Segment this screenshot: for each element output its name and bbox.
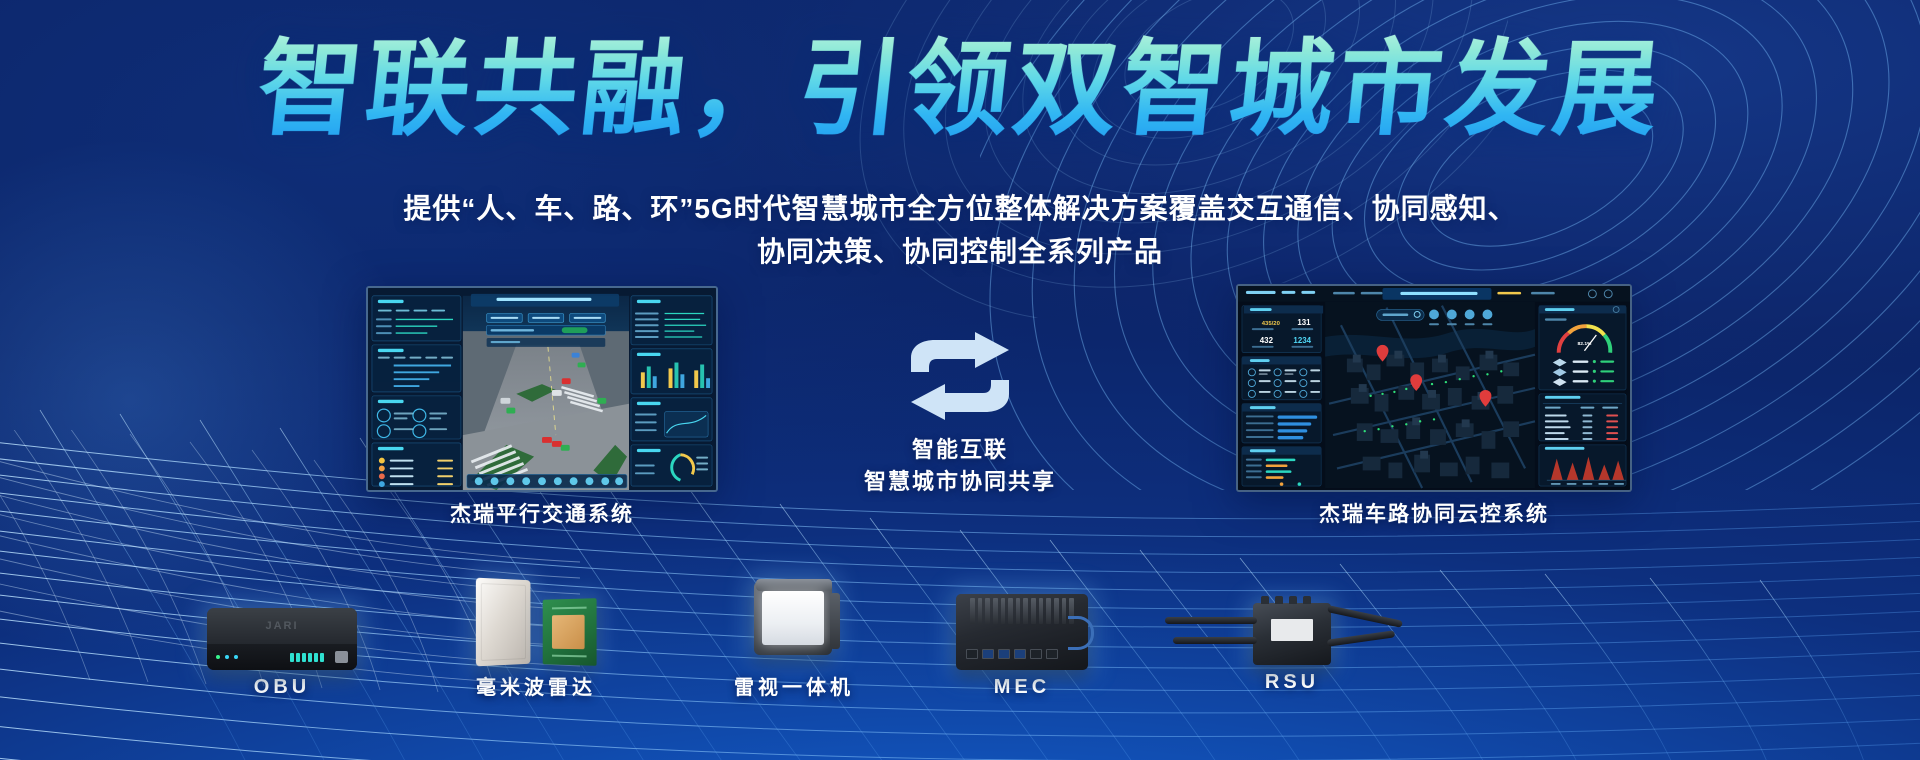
caption-cloud-control: 杰瑞车路协同云控系统 [1236, 498, 1632, 528]
svg-text:432: 432 [1260, 336, 1274, 345]
product-obu-label: OBU [182, 676, 382, 699]
center-text-line-1: 智能互联 [830, 434, 1090, 466]
product-lidar-cam-image [694, 555, 894, 665]
center-exchange-block: 智能互联 智慧城市协同共享 [830, 332, 1090, 498]
product-mec-label: MEC [922, 676, 1122, 699]
page-title: 智联共融，引领双智城市发展 [0, 28, 1920, 151]
product-radar[interactable]: 毫米波雷达 [436, 555, 636, 700]
product-mec-image [922, 560, 1122, 670]
subtitle-line-1: 提供“人、车、路、环”5G时代智慧城市全方位整体解决方案覆盖交互通信、协同感知、 [0, 188, 1920, 231]
screen-parallel-traffic[interactable] [366, 286, 718, 492]
svg-text:1234: 1234 [1293, 336, 1311, 345]
banner-stage: 智联共融，引领双智城市发展 提供“人、车、路、环”5G时代智慧城市全方位整体解决… [0, 0, 1920, 760]
svg-text:131: 131 [1297, 318, 1311, 327]
product-rsu-image [1192, 545, 1392, 665]
obu-brand-label: JARI [207, 620, 357, 632]
center-exchange-text: 智能互联 智慧城市协同共享 [830, 434, 1090, 498]
svg-text:82.1%: 82.1% [1577, 341, 1592, 347]
product-obu[interactable]: JARI OBU [182, 560, 382, 699]
center-text-line-2: 智慧城市协同共享 [830, 466, 1090, 498]
subtitle-line-2: 协同决策、协同控制全系列产品 [0, 231, 1920, 274]
product-lidar-cam-label: 雷视一体机 [694, 671, 894, 700]
screen-cloud-control[interactable]: 435/20 131 432 1234 [1236, 284, 1632, 492]
exchange-arrows-icon [905, 332, 1015, 420]
product-radar-image [436, 555, 636, 665]
svg-text:435/20: 435/20 [1262, 321, 1281, 327]
product-radar-label: 毫米波雷达 [436, 671, 636, 700]
page-subtitle: 提供“人、车、路、环”5G时代智慧城市全方位整体解决方案覆盖交互通信、协同感知、… [0, 188, 1920, 273]
product-rsu[interactable]: RSU [1192, 545, 1392, 694]
product-rsu-label: RSU [1192, 671, 1392, 694]
product-mec[interactable]: MEC [922, 560, 1122, 699]
product-lidar-cam[interactable]: 雷视一体机 [694, 555, 894, 700]
product-obu-image: JARI [182, 560, 382, 670]
caption-parallel-traffic: 杰瑞平行交通系统 [366, 498, 718, 528]
